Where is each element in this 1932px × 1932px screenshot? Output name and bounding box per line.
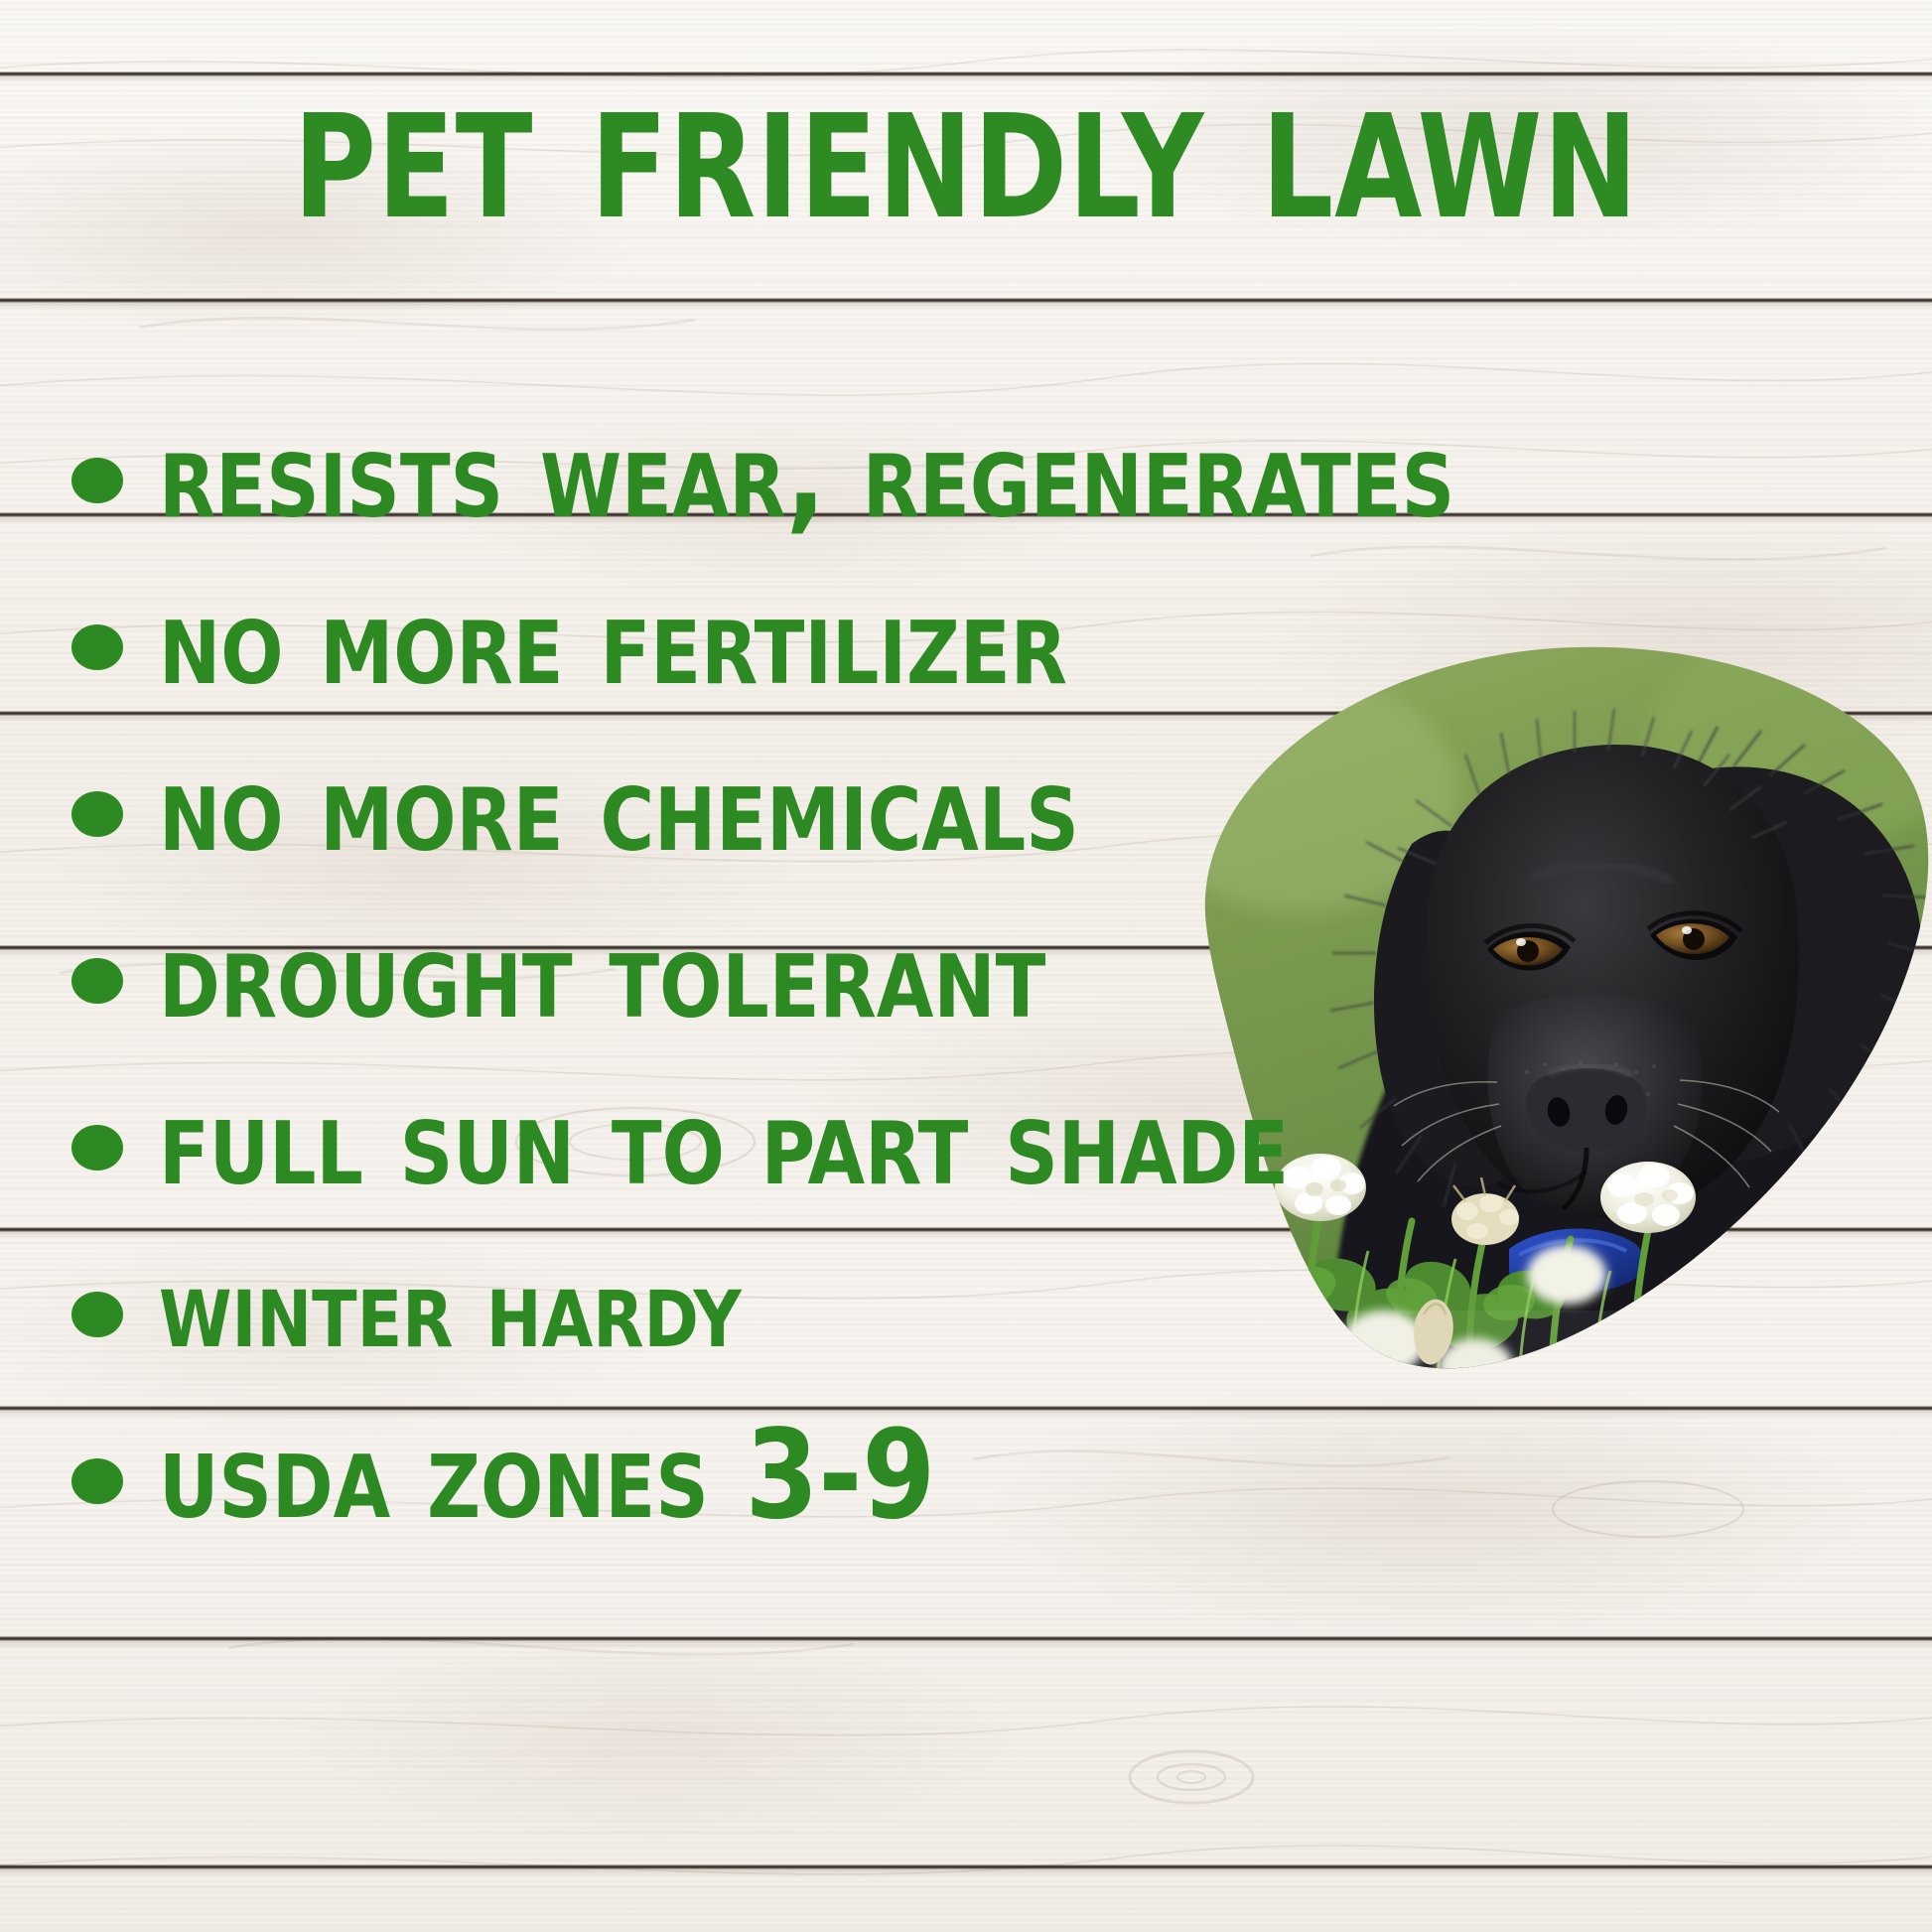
plank-seam (0, 298, 1932, 303)
list-item: Drought Tolerant (0, 897, 1251, 1064)
list-item: Usda zones 3-9 (0, 1398, 1251, 1565)
list-item: No More Fertilizer (0, 564, 1251, 731)
list-item: Full sun to Part shade (0, 1064, 1251, 1231)
list-item: winter hardy (0, 1231, 1251, 1398)
bullet-dot-icon (71, 624, 123, 670)
bullet-dot-icon (71, 791, 123, 837)
plank-seam (0, 1864, 1932, 1869)
list-item-label: Full sun to Part shade (159, 1080, 1289, 1203)
poster-canvas: Pet Friendly Lawn Resists wear, Regenera… (0, 0, 1932, 1932)
list-item-label: Drought Tolerant (159, 913, 1045, 1036)
list-item-label: Resists wear, Regenerates (159, 413, 1454, 536)
list-item: Resists wear, Regenerates (0, 397, 1251, 564)
bullet-dot-icon (71, 1458, 123, 1504)
bullet-dot-icon (71, 958, 123, 1004)
list-item-label: Usda zones 3-9 (159, 1414, 935, 1537)
plank-seam (0, 1636, 1932, 1641)
feature-list: Resists wear, Regenerates No More Fertil… (0, 397, 1251, 1565)
dog-photo-svg (1181, 616, 1932, 1390)
list-item-label: winter hardy (159, 1253, 742, 1364)
list-item: No More Chemicals (0, 731, 1251, 897)
page-title: Pet Friendly Lawn (116, 46, 1816, 249)
bullet-dot-icon (71, 1292, 123, 1337)
dog-photo (1181, 616, 1932, 1390)
list-item-label: No More Chemicals (159, 747, 1079, 870)
bullet-dot-icon (71, 458, 123, 503)
bullet-dot-icon (71, 1125, 123, 1171)
list-item-label: No More Fertilizer (159, 580, 1067, 703)
